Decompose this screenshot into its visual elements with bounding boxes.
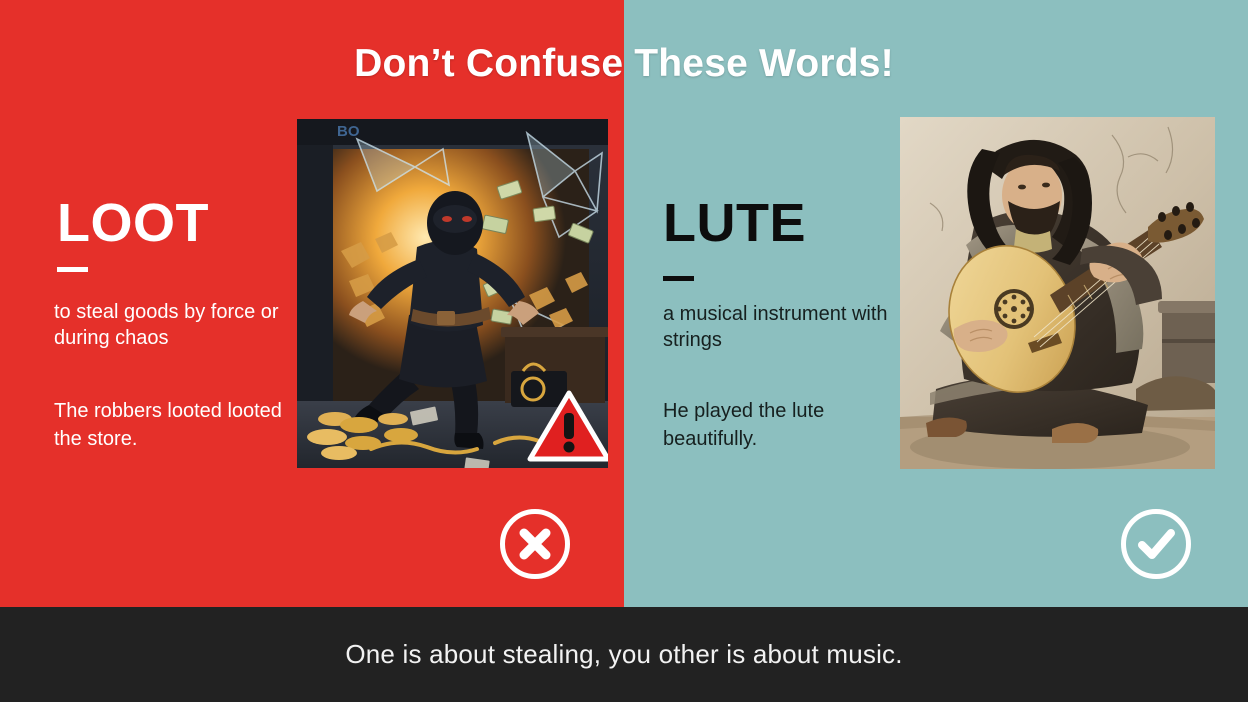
definition-lute: a musical instrument with strings xyxy=(663,301,913,354)
definition-loot: to steal goods by force or during chaos xyxy=(54,299,304,352)
heading-rule-left xyxy=(57,267,88,272)
example-sentence-lute: He played the lute beautifully. xyxy=(663,398,913,453)
footer-bar: One is about stealing, you other is abou… xyxy=(0,607,1248,702)
heading-rule-right xyxy=(663,276,694,281)
slide-canvas: Don’t Confuse These Words! LOOT to steal… xyxy=(0,0,1248,702)
word-heading-loot: LOOT xyxy=(57,196,209,250)
svg-text:BO: BO xyxy=(337,123,360,140)
example-sentence-loot: The robbers looted looted the store. xyxy=(54,398,304,453)
word-heading-lute: LUTE xyxy=(663,196,806,250)
check-circle-icon xyxy=(1121,509,1191,579)
footer-caption: One is about stealing, you other is abou… xyxy=(0,607,1248,702)
page-title: Don’t Confuse These Words! xyxy=(0,42,1248,86)
x-circle-icon xyxy=(500,509,570,579)
lute-player-photo xyxy=(900,117,1215,469)
thief-looting-store-illustration: BO xyxy=(297,119,608,468)
